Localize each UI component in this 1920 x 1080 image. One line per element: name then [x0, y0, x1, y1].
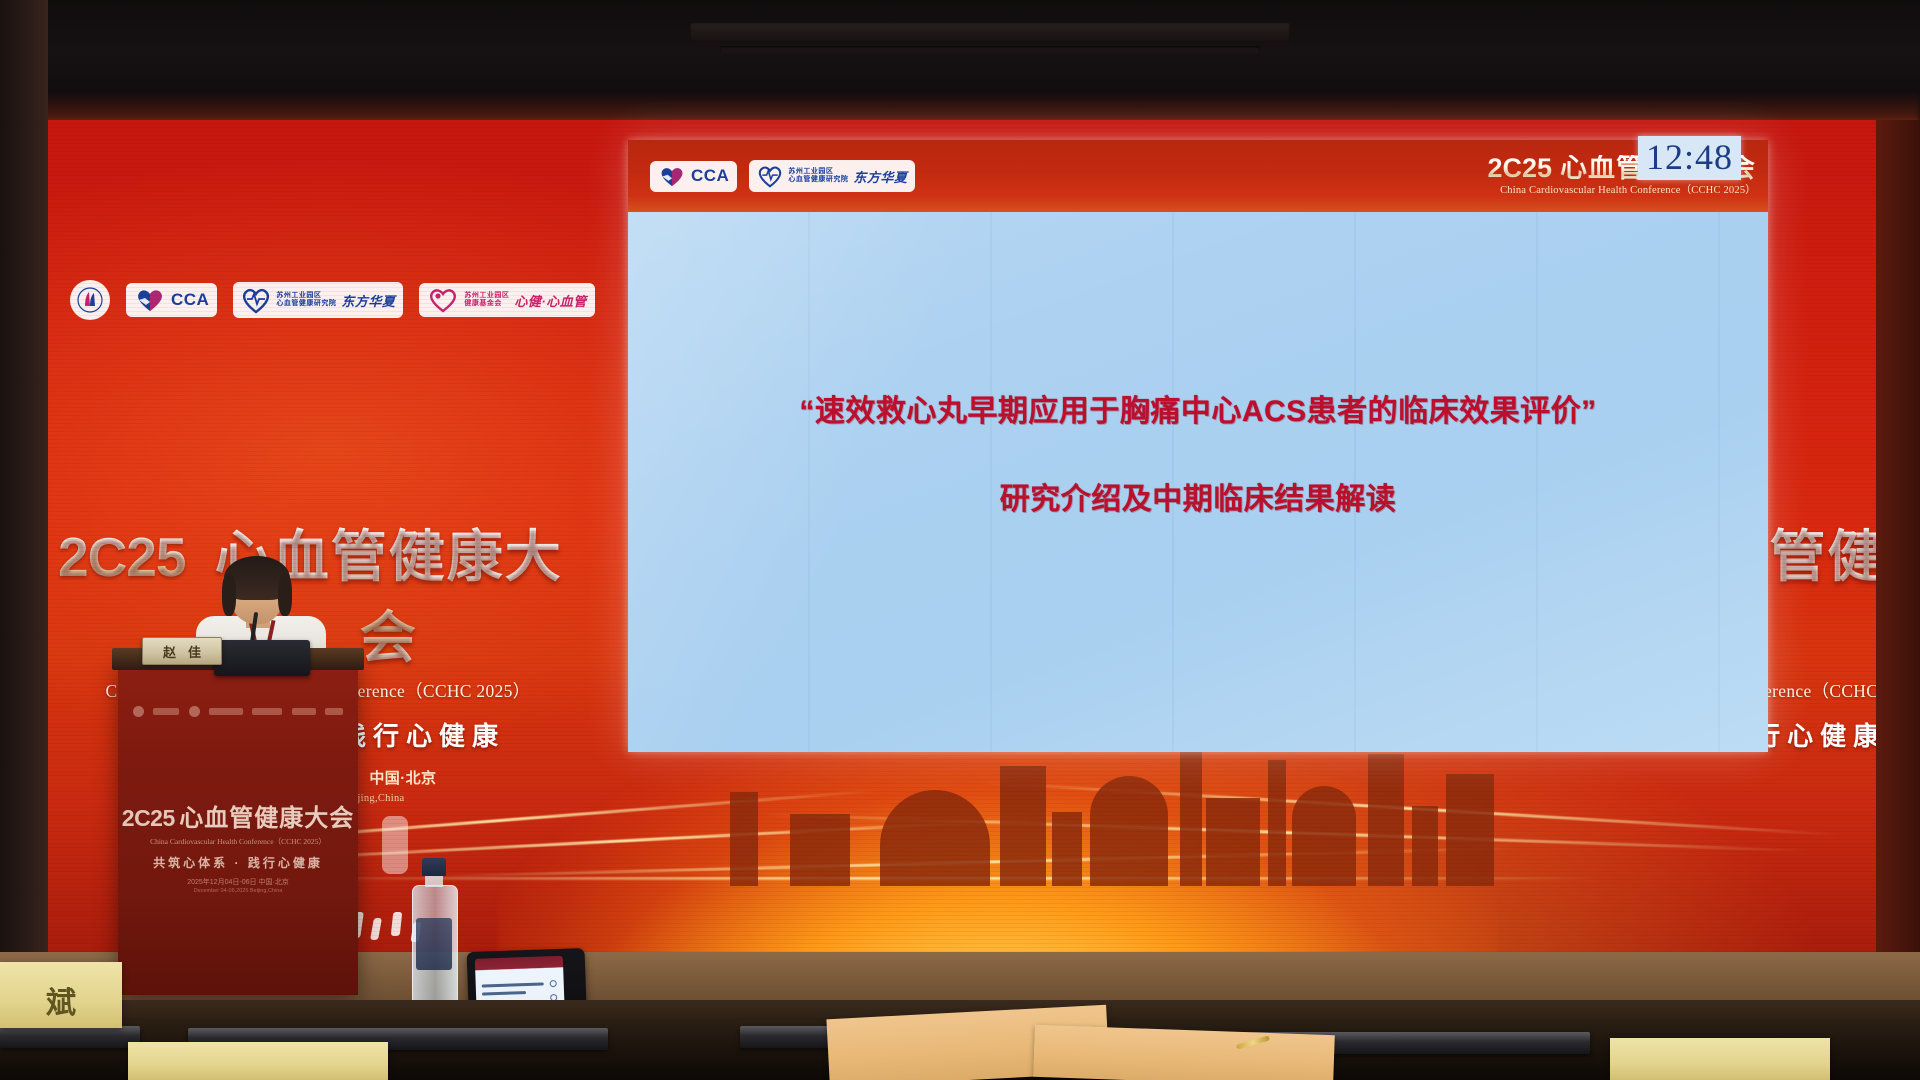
name-card-text: 斌	[0, 962, 122, 1022]
backdrop-sponsor-logos: CCA 苏州工业园区 心血管健康研究院 东方华夏	[70, 280, 595, 320]
slide-content: “速效救心丸早期应用于胸痛中心ACS患者的临床效果评价” 研究介绍及中期临床结果…	[628, 212, 1768, 752]
heart-pulse-icon	[757, 164, 783, 188]
slide-header-logos: CCA 苏州工业园区 心血管健康研究院 东方华夏	[650, 160, 915, 192]
podium-title-en: China Cardiovascular Health Conference（C…	[118, 836, 358, 847]
table-tray	[0, 1026, 140, 1048]
institute-seal-logo	[70, 280, 110, 320]
right-wall-panel	[1876, 120, 1920, 960]
dongfang-huaxia-label: 东方华夏	[853, 167, 907, 186]
nameplate-char-2: 佳	[188, 642, 201, 661]
document-paper	[1033, 1025, 1335, 1080]
institute-line2: 心血管健康研究院	[276, 300, 336, 308]
xinjian-xinxueguan-logo: 苏州工业园区 健康基金会 心健·心血管	[419, 283, 594, 317]
heart-handshake-icon	[658, 165, 686, 188]
podium-title-year: 2C25	[122, 805, 175, 831]
bottle-label	[416, 918, 452, 970]
podium-nameplate: 赵 佳	[142, 637, 222, 665]
ceiling-light-slot	[720, 46, 1260, 54]
ceiling-light-slot	[690, 22, 1290, 42]
delegate-name-card: 斌	[0, 962, 122, 1028]
podium-title-cn: 心血管健康大会	[179, 805, 354, 832]
dongfang-huaxia-logo: 苏州工业园区 心血管健康研究院 东方华夏	[749, 160, 915, 192]
cca-logo-label: CCA	[171, 290, 209, 310]
bottle-neck	[425, 875, 443, 887]
clock-overlay: 12:48	[1638, 136, 1741, 180]
foundation-line2: 健康基金会	[464, 300, 509, 308]
nameplate-char-1: 赵	[163, 642, 176, 661]
podium-slogan: 共筑心体系 · 践行心健康	[118, 854, 358, 871]
slide-brand-year: 2C25	[1487, 155, 1552, 182]
left-wall-panel	[0, 0, 48, 1080]
speaker-hair	[278, 574, 292, 616]
delegate-name-card	[128, 1042, 388, 1080]
podium: 2C25 心血管健康大会 China Cardiovascular Health…	[118, 660, 358, 995]
institute-line1: 苏州工业园区	[276, 292, 336, 300]
podium-date-cn: 2025年12月04日-06日 中国·北京	[118, 877, 358, 887]
cca-logo: CCA	[126, 283, 217, 317]
microphone-base	[214, 640, 310, 676]
stage-photo: CCA 苏州工业园区 心血管健康研究院 东方华夏	[0, 0, 1920, 1080]
slide-title-line-2: 研究介绍及中期临床结果解读	[1000, 474, 1397, 518]
podium-conference-title: 2C25 心血管健康大会 China Cardiovascular Health…	[118, 798, 358, 894]
projection-screen: CCA 苏州工业园区 心血管健康研究院 东方华夏 2C25	[628, 140, 1768, 752]
backdrop-title-year: 2C25	[58, 525, 185, 589]
water-bottle	[412, 858, 456, 1010]
institute-line1: 苏州工业园区	[788, 168, 848, 176]
cca-logo-label: CCA	[691, 166, 729, 186]
bottle-cap	[422, 858, 446, 876]
heart-pulse-icon	[241, 286, 271, 314]
slide-brand-en: China Cardiovascular Health Conference（C…	[1500, 186, 1756, 197]
double-heart-icon	[427, 287, 459, 313]
heart-handshake-icon	[134, 287, 166, 313]
xinjian-label: 心健·心血管	[514, 291, 586, 310]
slide-header-band: CCA 苏州工业园区 心血管健康研究院 东方华夏 2C25	[628, 140, 1768, 212]
dongfang-huaxia-logo: 苏州工业园区 心血管健康研究院 东方华夏	[233, 282, 403, 318]
slide-title-line-1: “速效救心丸早期应用于胸痛中心ACS患者的临床效果评价”	[799, 386, 1596, 430]
speaker-hair	[222, 574, 236, 616]
delegate-name-card	[1610, 1038, 1830, 1080]
cca-logo: CCA	[650, 161, 737, 192]
podium-date-en: December 04-06,2025 Beijing,China	[118, 888, 358, 894]
podium-sponsor-logos	[128, 702, 348, 720]
dongfang-huaxia-label: 东方华夏	[341, 291, 395, 310]
institute-line2: 心血管健康研究院	[788, 176, 848, 184]
foundation-line1: 苏州工业园区	[464, 292, 509, 300]
